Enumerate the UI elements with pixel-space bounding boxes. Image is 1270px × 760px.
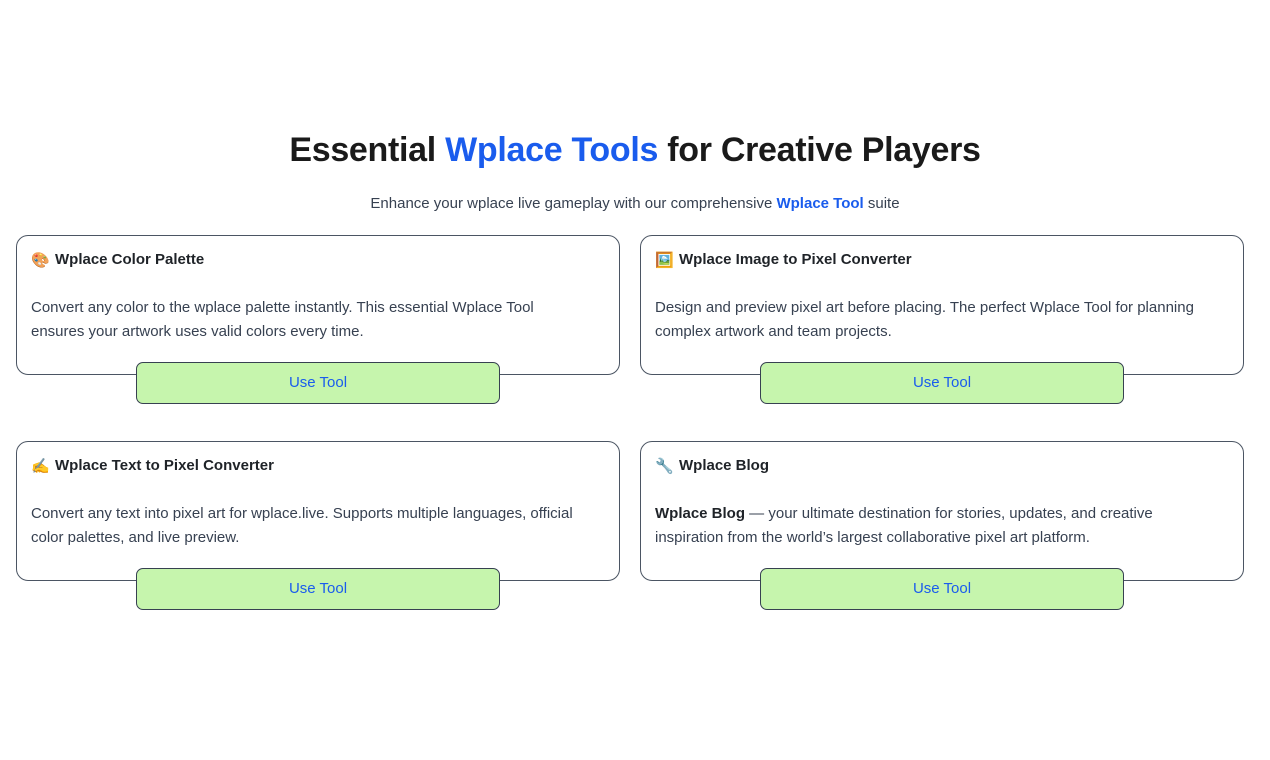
tool-card-title: Wplace Text to Pixel Converter bbox=[55, 456, 274, 476]
use-tool-button-color-palette[interactable]: Use Tool bbox=[136, 362, 500, 404]
tool-card-title: Wplace Color Palette bbox=[55, 250, 204, 270]
tool-card-description: Wplace Blog — your ultimate destination … bbox=[653, 476, 1217, 550]
tool-card-description-rest: Design and preview pixel art before plac… bbox=[655, 299, 1194, 340]
tool-card-text-to-pixel: ✍️ Wplace Text to Pixel Converter Conver… bbox=[16, 441, 620, 581]
tool-card-description: Convert any color to the wplace palette … bbox=[29, 270, 593, 344]
page-subtitle-part-2: suite bbox=[864, 195, 900, 212]
tool-card-color-palette: 🎨 Wplace Color Palette Convert any color… bbox=[16, 235, 620, 375]
tool-card-grid: 🎨 Wplace Color Palette Convert any color… bbox=[16, 235, 1254, 581]
tool-card-description: Design and preview pixel art before plac… bbox=[653, 270, 1217, 344]
tool-card-description-lead: Wplace Blog bbox=[655, 505, 745, 522]
tool-card-blog: 🔧 Wplace Blog Wplace Blog — your ultimat… bbox=[640, 441, 1244, 581]
use-tool-button-text-to-pixel[interactable]: Use Tool bbox=[136, 568, 500, 610]
tool-card-title: Wplace Image to Pixel Converter bbox=[679, 250, 912, 270]
tool-card-title-row: ✍️ Wplace Text to Pixel Converter bbox=[29, 456, 607, 476]
tool-card-title-row: 🎨 Wplace Color Palette bbox=[29, 250, 607, 270]
tool-card-image-to-pixel: 🖼️ Wplace Image to Pixel Converter Desig… bbox=[640, 235, 1244, 375]
tools-landing-page: Essential Wplace Tools for Creative Play… bbox=[0, 0, 1270, 760]
page-subtitle-accent: Wplace Tool bbox=[776, 195, 863, 212]
tool-card-row-1: 🎨 Wplace Color Palette Convert any color… bbox=[16, 235, 1254, 375]
writing-hand-icon: ✍️ bbox=[31, 459, 48, 474]
tool-card-row-2: ✍️ Wplace Text to Pixel Converter Conver… bbox=[16, 441, 1254, 581]
wrench-icon: 🔧 bbox=[655, 459, 672, 474]
page-subtitle-part-1: Enhance your wplace live gameplay with o… bbox=[370, 195, 776, 212]
page-header: Essential Wplace Tools for Creative Play… bbox=[0, 128, 1270, 215]
tool-card-title-row: 🖼️ Wplace Image to Pixel Converter bbox=[653, 250, 1231, 270]
use-tool-button-image-to-pixel[interactable]: Use Tool bbox=[760, 362, 1124, 404]
tool-card-description-rest: Convert any color to the wplace palette … bbox=[31, 299, 534, 340]
use-tool-button-blog[interactable]: Use Tool bbox=[760, 568, 1124, 610]
page-title-part-2: for Creative Players bbox=[658, 131, 981, 169]
tool-card-title-row: 🔧 Wplace Blog bbox=[653, 456, 1231, 476]
page-title: Essential Wplace Tools for Creative Play… bbox=[0, 128, 1270, 172]
artist-palette-icon: 🎨 bbox=[31, 253, 48, 268]
tool-card-description-rest: Convert any text into pixel art for wpla… bbox=[31, 505, 573, 546]
page-title-accent: Wplace Tools bbox=[445, 131, 658, 169]
tool-card-title: Wplace Blog bbox=[679, 456, 769, 476]
page-subtitle: Enhance your wplace live gameplay with o… bbox=[0, 172, 1270, 215]
page-title-part-1: Essential bbox=[289, 131, 445, 169]
tool-card-description: Convert any text into pixel art for wpla… bbox=[29, 476, 593, 550]
framed-picture-icon: 🖼️ bbox=[655, 253, 672, 268]
